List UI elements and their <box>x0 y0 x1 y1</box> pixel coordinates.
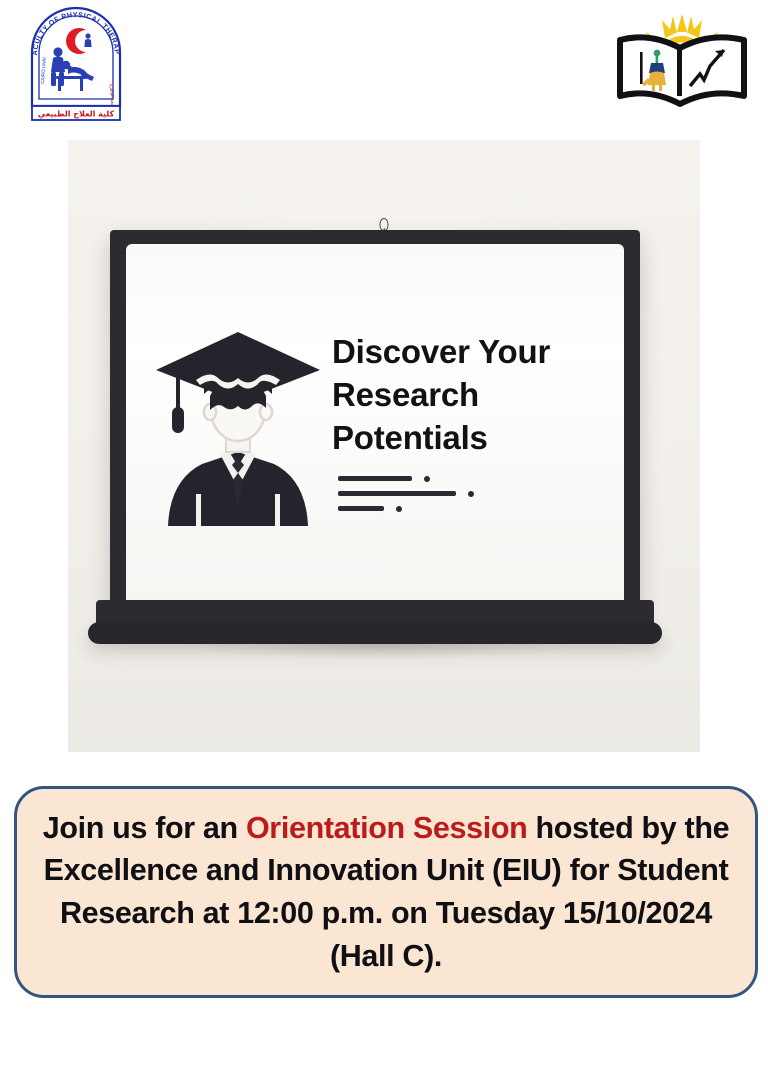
header-logos: FACULTY OF PHYSICAL THERAPY CAIRO UNIV. … <box>0 0 768 132</box>
headline-line-1: Discover Your <box>332 331 598 374</box>
whiteboard-surface: Discover Your Research Potentials <box>126 244 624 606</box>
board-headline: Discover Your Research Potentials <box>328 325 598 521</box>
headline-line-3: Potentials <box>332 417 598 460</box>
decorative-bar <box>338 476 412 481</box>
graduate-with-mortarboard-icon <box>152 318 324 528</box>
excellence-and-innovation-unit-emblem-icon <box>612 12 752 112</box>
decorative-line-row <box>338 506 598 512</box>
decorative-bar <box>338 506 384 511</box>
decorative-line-row <box>338 491 598 497</box>
decorative-dot <box>468 491 474 497</box>
svg-text:كلية العلاج الطبيعي: كلية العلاج الطبيعي <box>38 110 115 119</box>
decorative-line-row <box>338 476 598 482</box>
caption-highlight: Orientation Session <box>246 811 527 845</box>
frame-drop-shadow <box>108 644 648 686</box>
decorative-bar <box>338 491 456 496</box>
whiteboard-frame: Discover Your Research Potentials <box>110 230 640 622</box>
event-poster: FACULTY OF PHYSICAL THERAPY CAIRO UNIV. … <box>0 0 768 1088</box>
headline-line-2: Research <box>332 374 598 417</box>
decorative-lines <box>338 476 598 512</box>
decorative-dot <box>396 506 402 512</box>
decorative-dot <box>424 476 430 482</box>
announcement-caption-box: Join us for an Orientation Session hoste… <box>14 786 758 998</box>
poster-photo: Discover Your Research Potentials <box>68 140 700 752</box>
frame-tray-bar <box>88 622 662 644</box>
announcement-text: Join us for an Orientation Session hoste… <box>33 807 739 978</box>
faculty-of-physical-therapy-seal-icon: FACULTY OF PHYSICAL THERAPY CAIRO UNIV. … <box>22 6 130 124</box>
caption-prefix: Join us for an <box>43 811 246 845</box>
